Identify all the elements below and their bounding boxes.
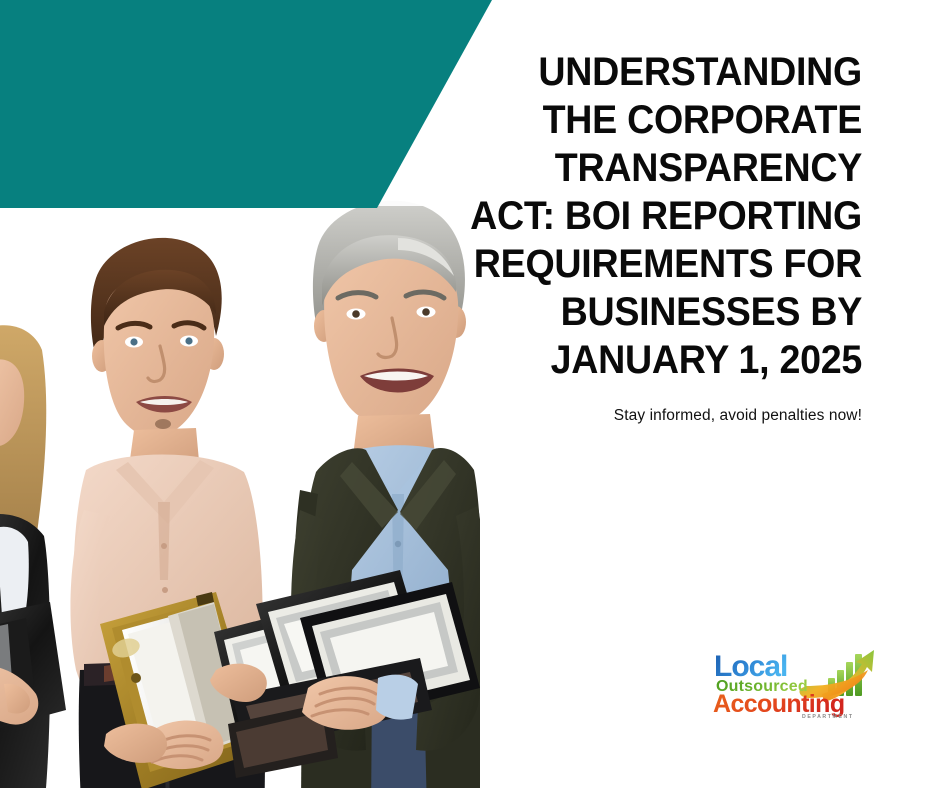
page-title: UNDERSTANDING THE CORPORATE TRANSPARENCY… (439, 48, 862, 384)
hero-photo (0, 150, 480, 788)
logo-text-department: DEPARTMENT (802, 714, 854, 720)
headline-block: UNDERSTANDING THE CORPORATE TRANSPARENCY… (412, 48, 862, 426)
brand-logo[interactable]: Local Outsourced Accounting DEPARTMENT (710, 642, 888, 720)
business-people-illustration (0, 150, 480, 788)
subtitle-text: Stay informed, avoid penalties now! (412, 384, 862, 426)
logo-graphic: Local Outsourced Accounting DEPARTMENT (710, 642, 888, 720)
poster-canvas: UNDERSTANDING THE CORPORATE TRANSPARENCY… (0, 0, 940, 788)
